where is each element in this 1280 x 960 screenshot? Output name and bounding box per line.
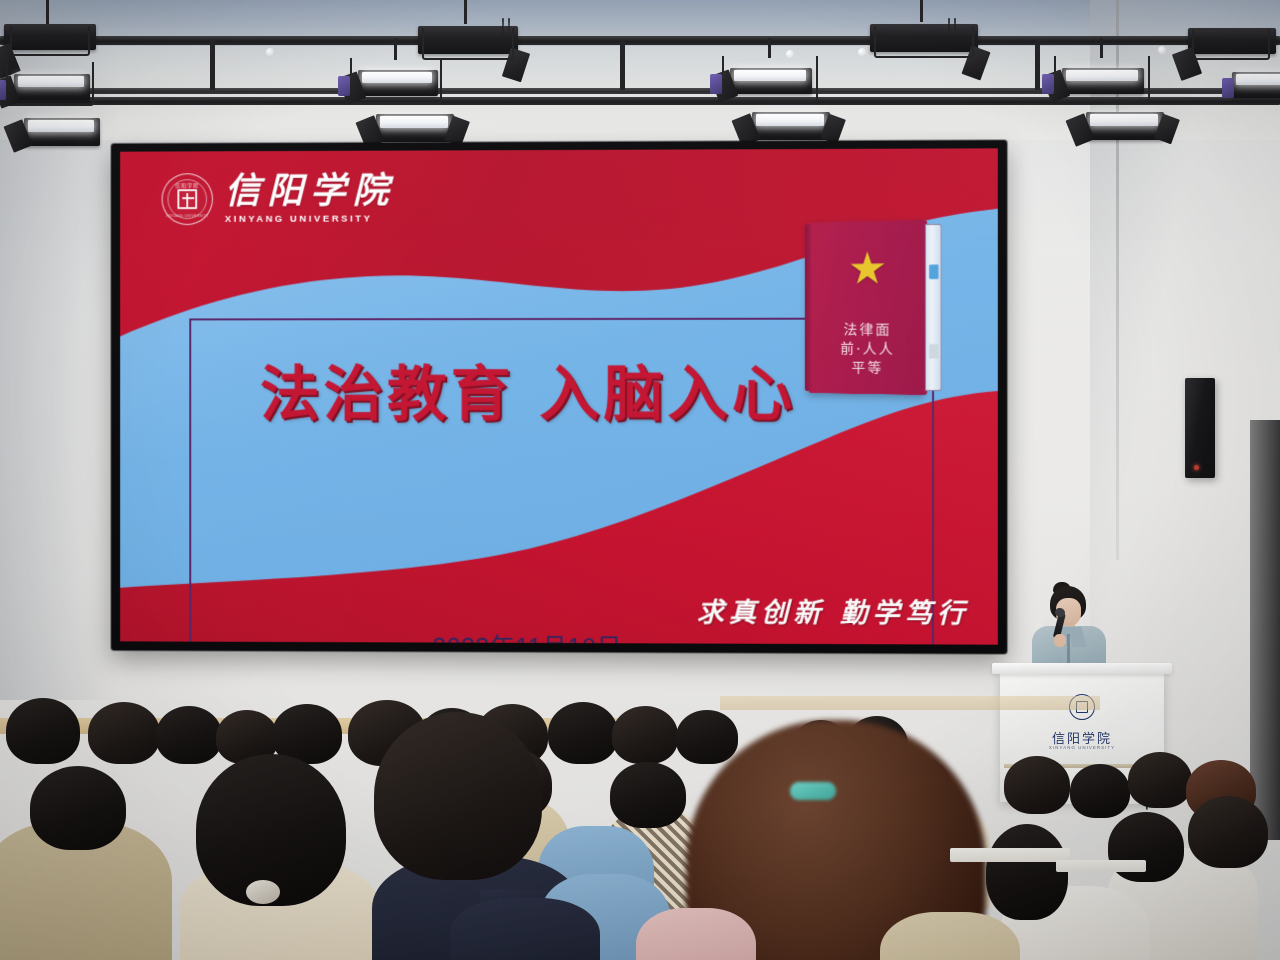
audience-head	[1188, 796, 1268, 868]
lecture-hall-scene: 信阳学院 XINYANG UNIVERSITY 信阳学院 XINYANG UNI…	[0, 0, 1280, 960]
audience-head	[6, 698, 80, 764]
slide-title: 法治教育 入脑入心	[120, 346, 939, 434]
truss-knob-4	[1158, 46, 1166, 54]
hair-tie	[246, 880, 280, 904]
audience-head	[1004, 756, 1070, 814]
logo-text-block: 信阳学院 XINYANG UNIVERSITY	[225, 173, 396, 225]
seal-inner-glyph	[177, 189, 197, 209]
slide-surface: 信阳学院 XINYANG UNIVERSITY 信阳学院 XINYANG UNI…	[120, 148, 998, 644]
university-seal-icon: 信阳学院 XINYANG UNIVERSITY	[162, 173, 213, 225]
book-page-tab-1	[929, 265, 938, 279]
audience-head-front	[374, 712, 542, 880]
seal-arc-bottom-text: XINYANG UNIVERSITY	[166, 214, 209, 218]
led-display-screen[interactable]: 信阳学院 XINYANG UNIVERSITY 信阳学院 XINYANG UNI…	[111, 140, 1007, 654]
truss-tick-u1	[210, 40, 215, 90]
university-motto: 求真创新 勤学笃行	[697, 590, 970, 630]
audience-head	[986, 824, 1068, 920]
audience-body	[636, 908, 756, 960]
audience-body	[450, 898, 600, 960]
truss-rail-upper	[0, 36, 1280, 45]
gold-star-glyph: ★	[845, 247, 889, 292]
bench-front	[950, 848, 1070, 862]
audience-head	[1070, 764, 1130, 818]
audience-head	[156, 706, 222, 764]
audience-head	[676, 710, 738, 764]
presenter-hand	[1054, 634, 1066, 647]
audience-head	[548, 702, 618, 764]
teal-hair-clip	[790, 782, 836, 800]
book-text-line-1: 法律面	[809, 322, 927, 342]
audience-body	[880, 912, 1020, 960]
speaker-led-indicator	[1194, 465, 1199, 470]
university-logo: 信阳学院 XINYANG UNIVERSITY 信阳学院 XINYANG UNI…	[162, 173, 396, 225]
audience-head	[610, 762, 686, 828]
wall-speaker	[1185, 378, 1215, 478]
truss-tick-u3	[1035, 40, 1040, 90]
bench-back-rail-2	[720, 696, 1100, 710]
university-name-en: XINYANG UNIVERSITY	[225, 213, 396, 224]
truss-knob-3	[858, 48, 866, 56]
university-name-cn: 信阳学院	[225, 173, 396, 209]
audience-head	[30, 766, 126, 850]
bench-front-2	[1056, 860, 1146, 872]
audience-head	[612, 706, 678, 764]
audience-area: PORT	[0, 660, 1280, 960]
audience-head	[1128, 752, 1192, 808]
audience-head	[88, 702, 160, 764]
truss-tick-u2	[620, 40, 625, 90]
truss-knob-1	[266, 48, 274, 56]
